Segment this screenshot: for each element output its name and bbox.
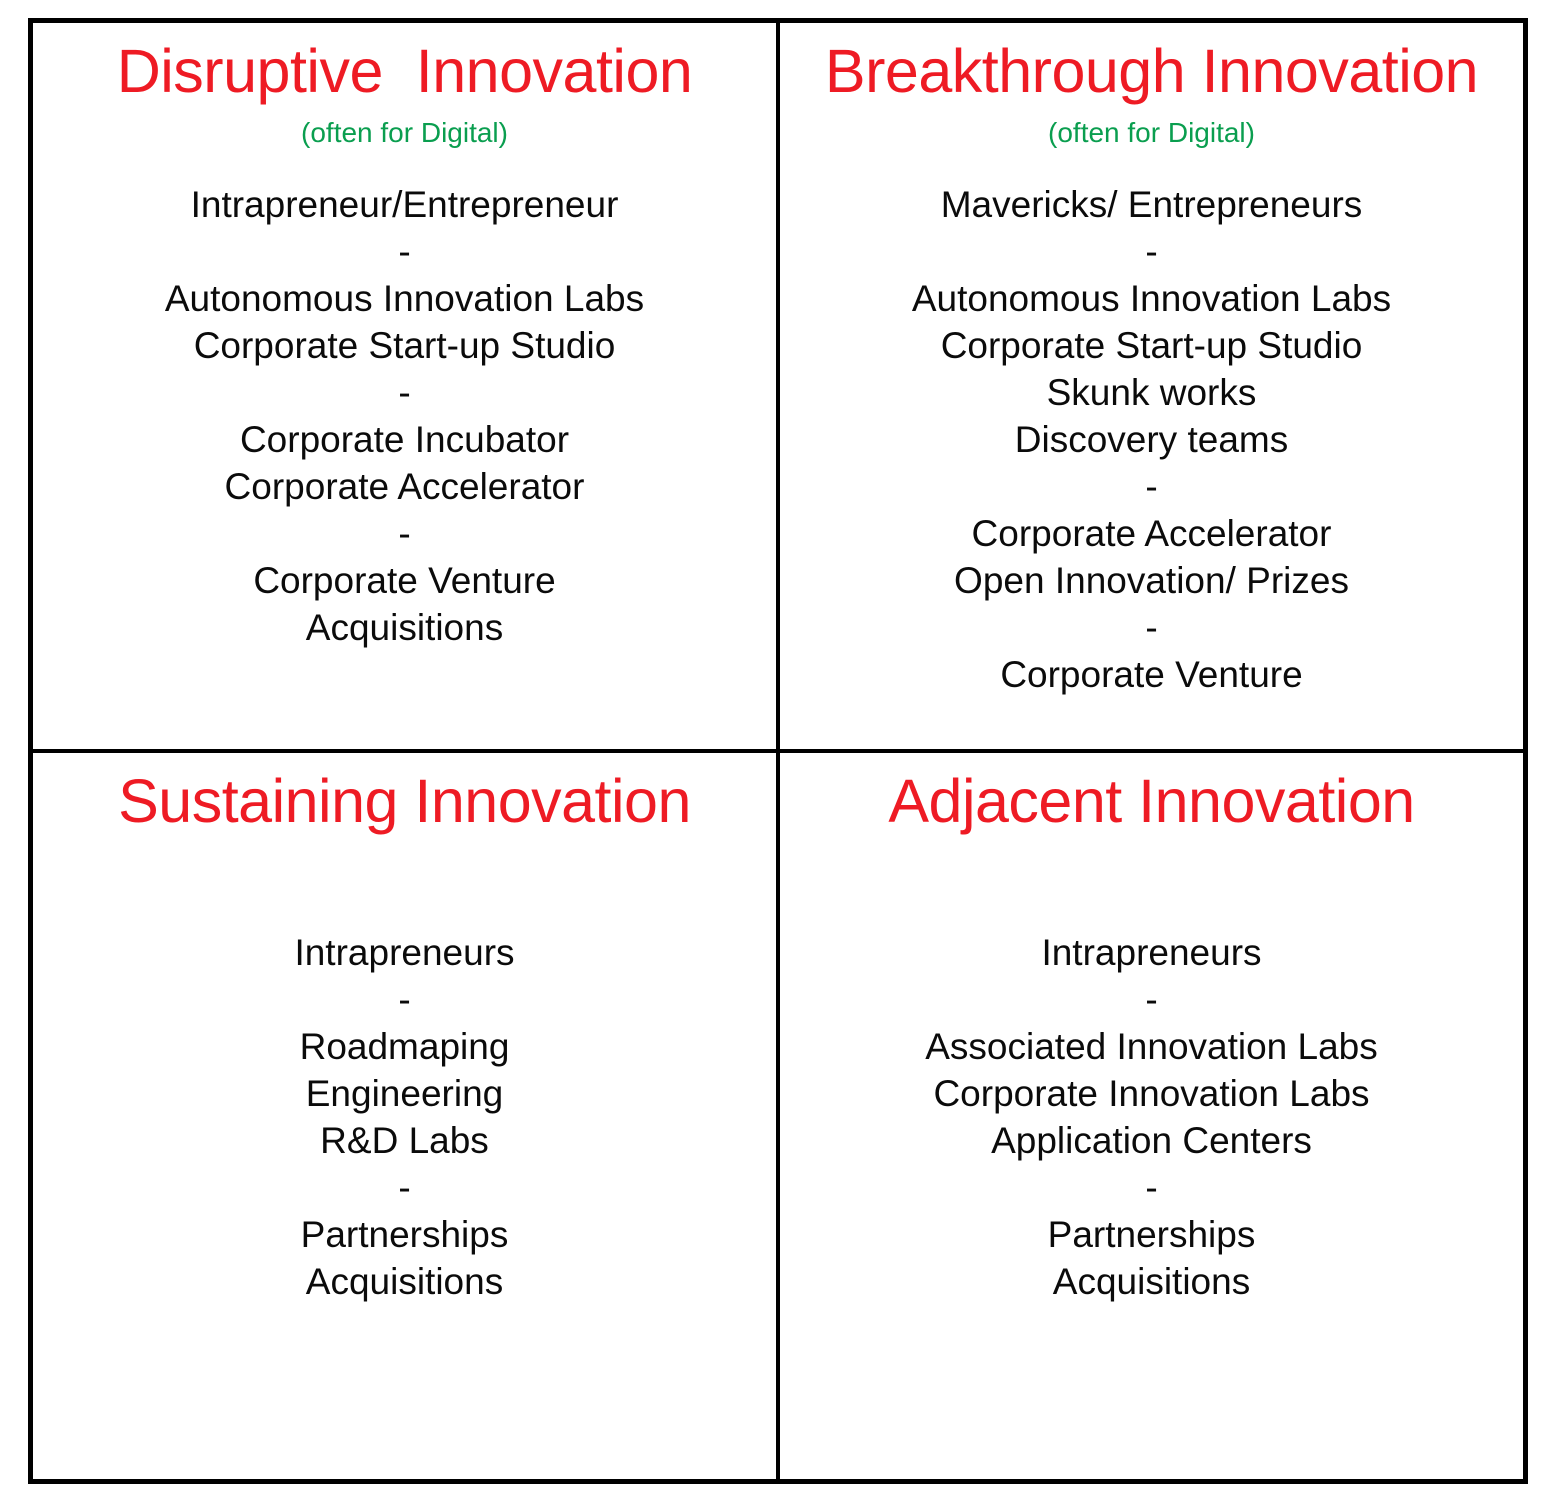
list-separator: - [786, 604, 1517, 651]
list-item: Discovery teams [786, 416, 1517, 463]
list-item: Partnerships [39, 1211, 770, 1258]
list-item: Associated Innovation Labs [786, 1023, 1517, 1070]
list-item: Corporate Start-up Studio [39, 322, 770, 369]
quadrant-breakthrough-innovation: Breakthrough Innovation (often for Digit… [778, 23, 1523, 751]
quadrant-body-adjacent: Intrapreneurs - Associated Innovation La… [786, 929, 1517, 1305]
quadrant-body-disruptive: Intrapreneur/Entrepreneur - Autonomous I… [39, 181, 770, 651]
list-separator: - [786, 228, 1517, 275]
list-item: Partnerships [786, 1211, 1517, 1258]
list-item: Autonomous Innovation Labs [786, 275, 1517, 322]
list-item: Corporate Venture [786, 651, 1517, 698]
list-item: Corporate Accelerator [39, 463, 770, 510]
quadrant-title-sustaining: Sustaining Innovation [39, 771, 770, 832]
list-separator: - [786, 463, 1517, 510]
list-item: Corporate Accelerator [786, 510, 1517, 557]
quadrant-subtitle-disruptive: (often for Digital) [39, 119, 770, 147]
list-item: Corporate Incubator [39, 416, 770, 463]
quadrant-disruptive-innovation: Disruptive Innovation (often for Digital… [33, 23, 778, 751]
quadrant-subtitle-breakthrough: (often for Digital) [786, 119, 1517, 147]
list-item: Acquisitions [786, 1258, 1517, 1305]
list-item: Intrapreneurs [39, 929, 770, 976]
list-item: Intrapreneurs [786, 929, 1517, 976]
list-separator: - [39, 369, 770, 416]
list-separator: - [786, 1164, 1517, 1211]
list-item: Mavericks/ Entrepreneurs [786, 181, 1517, 228]
list-item: Acquisitions [39, 1258, 770, 1305]
list-item: Application Centers [786, 1117, 1517, 1164]
quadrant-body-breakthrough: Mavericks/ Entrepreneurs - Autonomous In… [786, 181, 1517, 698]
list-separator: - [39, 228, 770, 275]
quadrant-body-sustaining: Intrapreneurs - Roadmaping Engineering R… [39, 929, 770, 1305]
list-item: Roadmaping [39, 1023, 770, 1070]
innovation-matrix: Disruptive Innovation (often for Digital… [28, 18, 1528, 1484]
list-item: Acquisitions [39, 604, 770, 651]
quadrant-title-disruptive: Disruptive Innovation [39, 41, 770, 102]
list-item: Open Innovation/ Prizes [786, 557, 1517, 604]
quadrant-sustaining-innovation: Sustaining Innovation Intrapreneurs - Ro… [33, 751, 778, 1479]
quadrant-title-breakthrough: Breakthrough Innovation [786, 41, 1517, 102]
list-separator: - [39, 976, 770, 1023]
list-item: Intrapreneur/Entrepreneur [39, 181, 770, 228]
list-item: Engineering [39, 1070, 770, 1117]
list-item: Corporate Start-up Studio [786, 322, 1517, 369]
list-item: Corporate Innovation Labs [786, 1070, 1517, 1117]
quadrant-title-adjacent: Adjacent Innovation [786, 771, 1517, 832]
list-separator: - [786, 976, 1517, 1023]
list-item: Autonomous Innovation Labs [39, 275, 770, 322]
list-item: Corporate Venture [39, 557, 770, 604]
list-item: R&D Labs [39, 1117, 770, 1164]
list-separator: - [39, 1164, 770, 1211]
quadrant-adjacent-innovation: Adjacent Innovation Intrapreneurs - Asso… [778, 751, 1523, 1479]
list-item: Skunk works [786, 369, 1517, 416]
list-separator: - [39, 510, 770, 557]
